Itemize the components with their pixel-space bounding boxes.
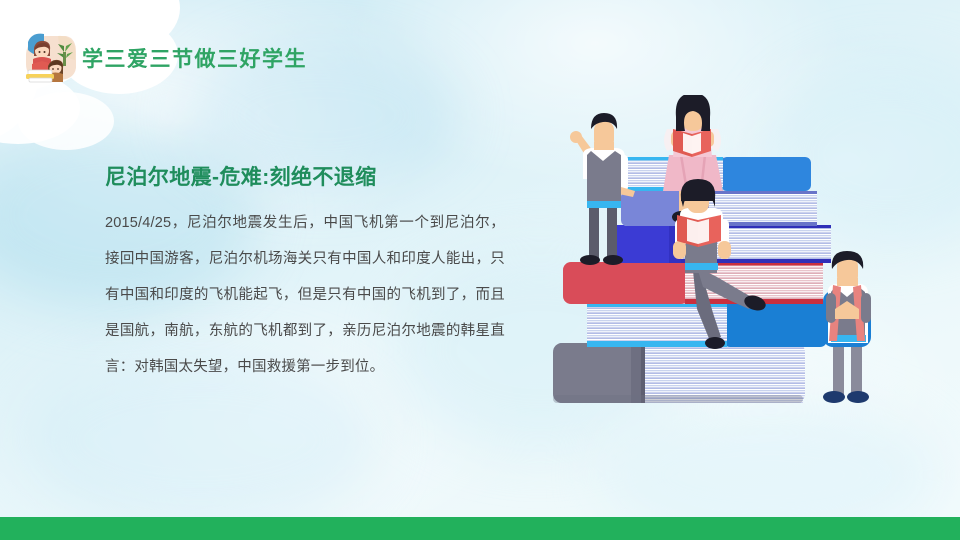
header-bar: 学三爱三节做三好学生 (0, 0, 960, 105)
slide-canvas: 学三爱三节做三好学生 尼泊尔地震-危难:刻绝不退缩 2015/4/25，尼泊尔地… (0, 0, 960, 540)
content-heading: 尼泊尔地震-危难:刻绝不退缩 (105, 161, 377, 191)
page-title: 学三爱三节做三好学生 (82, 43, 307, 73)
content-paragraph: 2015/4/25，尼泊尔地震发生后，中国飞机第一个到尼泊尔，接回中国游客，尼泊… (105, 205, 505, 385)
students-on-book-stack-illustration (545, 95, 955, 425)
footer-accent-bar (0, 517, 960, 540)
boy-with-backpack-character (823, 251, 871, 403)
children-reading-logo (18, 26, 84, 88)
book-gray (553, 343, 805, 403)
